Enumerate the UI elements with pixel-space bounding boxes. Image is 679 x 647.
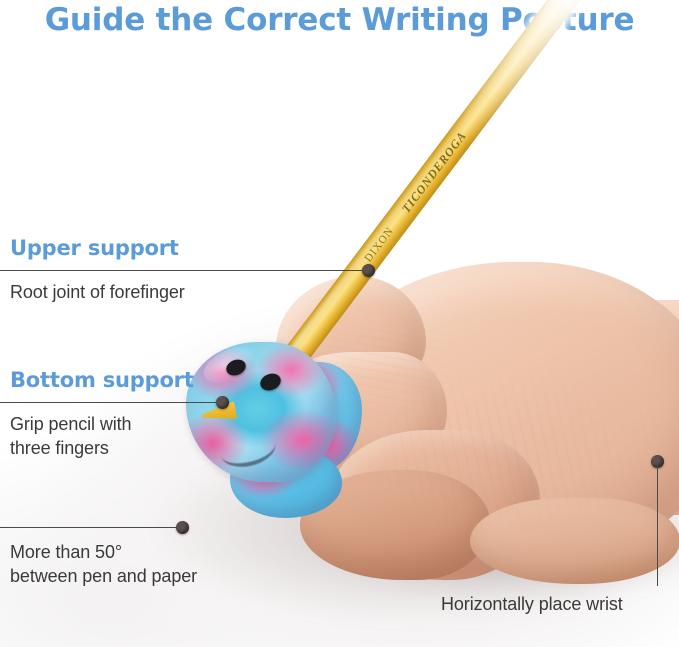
callout-bottom-support-anchor-dot [216, 396, 229, 409]
callout-pencil-angle-leader-line [0, 527, 180, 528]
callout-upper-support-heading: Upper support [10, 236, 179, 260]
callout-upper-support-description: Root joint of forefinger [10, 280, 185, 304]
callout-wrist-leader-line [657, 466, 658, 586]
callout-wrist-description: Horizontally place wrist [441, 592, 623, 616]
callout-bottom-support-description: Grip pencil with three fingers [10, 412, 131, 461]
callout-pencil-angle-anchor-dot [176, 521, 189, 534]
callout-upper-support-leader-line [0, 270, 366, 271]
callout-bottom-support-leader-line [0, 402, 220, 403]
callout-upper-support-anchor-dot [362, 264, 375, 277]
pencil-brand-ticonderoga: TICONDEROGA [399, 129, 470, 217]
callout-bottom-support-heading: Bottom support [10, 368, 194, 392]
callout-pencil-angle-description: More than 50° between pen and paper [10, 540, 197, 589]
infographic-canvas: Guide the Correct Writing Posture TICOND… [0, 0, 679, 647]
owl-pencil-grip [178, 336, 368, 521]
